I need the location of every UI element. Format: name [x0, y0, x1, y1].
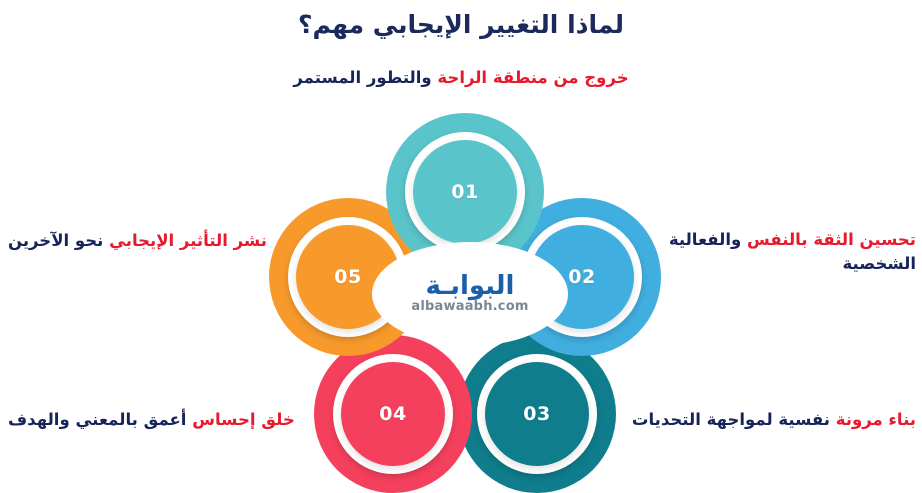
node-label-02: تحسين الثقة بالنفس والفعالية الشخصية [648, 228, 916, 276]
node-label-04: خلق إحساس أعمق بالمعني والهدف [8, 408, 320, 432]
watermark-backdrop [372, 242, 568, 346]
node-disc-03: 03 [485, 362, 589, 466]
node-label-03: بناء مرونة نفسية لمواجهة التحديات [604, 408, 916, 432]
node-label-02-highlight: تحسين الثقة بالنفس [747, 230, 916, 249]
page-title: لماذا التغيير الإيجابي مهم؟ [0, 10, 922, 39]
node-label-01-rest: والتطور المستمر [293, 68, 431, 87]
node-label-03-rest: نفسية لمواجهة التحديات [632, 410, 830, 429]
node-number-02: 02 [568, 266, 595, 288]
node-number-03: 03 [523, 403, 550, 425]
node-label-04-highlight: خلق إحساس [192, 410, 295, 429]
node-label-05-rest: نحو الآخرين [8, 231, 103, 250]
node-label-01: خروج من منطقة الراحة والتطور المستمر [0, 66, 922, 90]
node-label-05: نشر التأثير الإيجابي نحو الآخرين [8, 229, 294, 253]
node-disc-04: 04 [341, 362, 445, 466]
node-label-03-highlight: بناء مرونة [836, 410, 916, 429]
node-label-01-highlight: خروج من منطقة الراحة [437, 68, 628, 87]
node-disc-01: 01 [413, 140, 517, 244]
node-circle-04[interactable]: 04 [314, 335, 472, 493]
infographic-canvas: لماذا التغيير الإيجابي مهم؟ خروج من منطق… [0, 0, 922, 491]
node-number-01: 01 [451, 181, 478, 203]
node-circle-03[interactable]: 03 [458, 335, 616, 493]
node-number-05: 05 [334, 266, 361, 288]
node-label-05-highlight: نشر التأثير الإيجابي [109, 231, 267, 250]
node-label-04-rest: أعمق بالمعني والهدف [8, 410, 186, 429]
node-number-04: 04 [379, 403, 406, 425]
